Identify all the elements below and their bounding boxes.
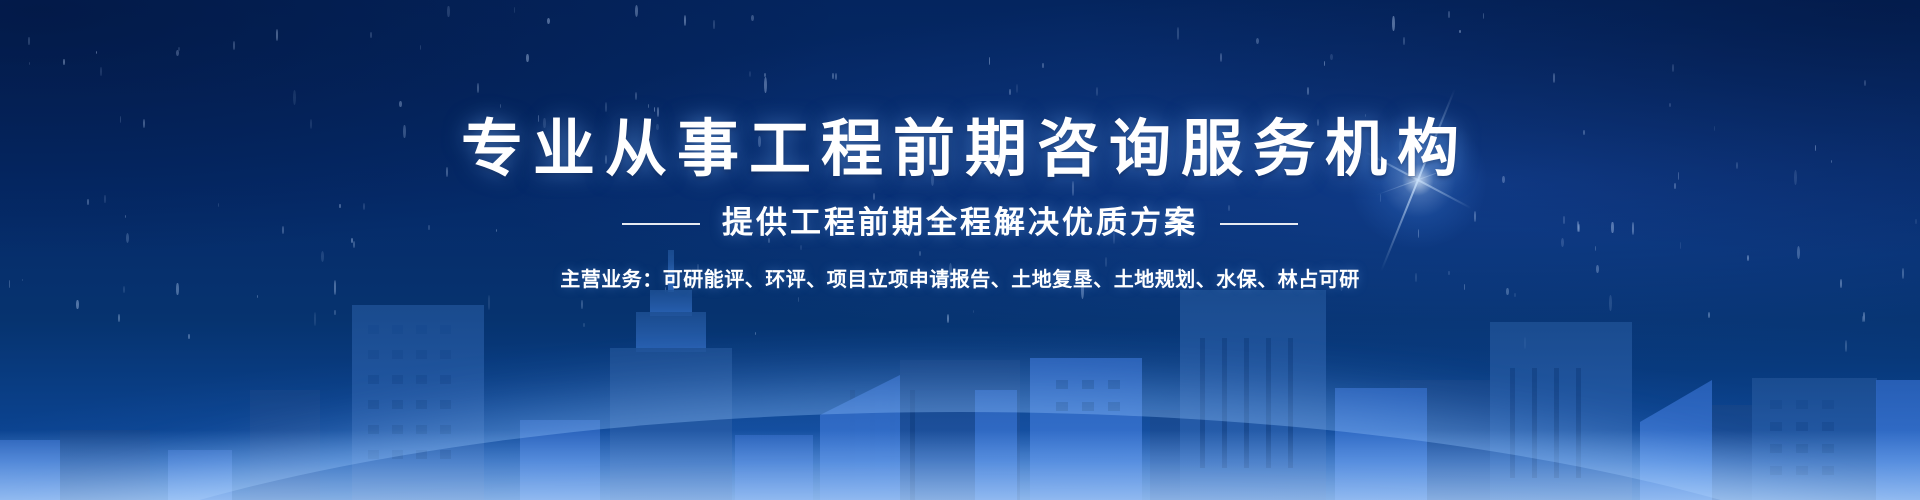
page-title: 专业从事工程前期咨询服务机构 (0, 118, 1920, 180)
services-line: 主营业务：可研能评、环评、项目立项申请报告、土地复垦、土地规划、水保、林占可研 (0, 269, 1920, 289)
page-subtitle: 提供工程前期全程解决优质方案 (722, 208, 1198, 239)
hero-text-block: 专业从事工程前期咨询服务机构 提供工程前期全程解决优质方案 主营业务：可研能评、… (0, 118, 1920, 289)
subtitle-row: 提供工程前期全程解决优质方案 (0, 208, 1920, 239)
left-rule-decoration (622, 223, 700, 225)
hero-banner: 专业从事工程前期咨询服务机构 提供工程前期全程解决优质方案 主营业务：可研能评、… (0, 0, 1920, 500)
right-rule-decoration (1220, 223, 1298, 225)
